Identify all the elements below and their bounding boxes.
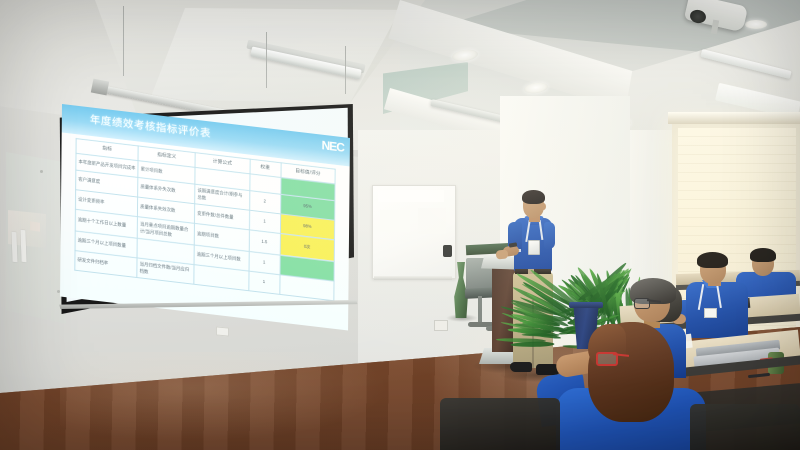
- whiteboard-reflection: [380, 210, 410, 232]
- palm-leaf: [522, 333, 560, 336]
- screen-suspension-wire: [266, 32, 267, 88]
- whiteboard-eraser[interactable]: [30, 221, 40, 231]
- screen-suspension-wire: [345, 46, 346, 94]
- whiteboard-reflection: [418, 208, 446, 234]
- presenter-shoe: [510, 362, 532, 372]
- cell-weight: 1: [248, 271, 279, 294]
- wall-outlet[interactable]: [216, 326, 229, 336]
- whiteboard-clip: [443, 245, 452, 257]
- whiteboard-reflection: [378, 190, 444, 202]
- wall-screw: [40, 170, 43, 173]
- chair[interactable]: [690, 404, 800, 450]
- whiteboard-marker[interactable]: [20, 230, 26, 263]
- whiteboard-marker[interactable]: [11, 232, 17, 263]
- slide-body: 指标 指标定义 计算公式 权重 目标值/评分 本年度新产品开发项目完成率 累计项…: [60, 132, 350, 330]
- attendee-back-man-hair: [750, 248, 776, 262]
- whiteboard-tray: [374, 276, 452, 280]
- slide-table: 指标 指标定义 计算公式 权重 目标值/评分 本年度新产品开发项目完成率 累计项…: [74, 138, 335, 301]
- screen-suspension-wire: [123, 6, 124, 76]
- attendee-lanyard-man-hair: [697, 252, 728, 268]
- window-header: [668, 112, 800, 124]
- company-logo: NEC: [321, 139, 343, 155]
- presenter-hair: [522, 190, 545, 204]
- meeting-room-photo: 年度绩效考核指标评价表 NEC 指标 指标定义 计算公式 权重 目标值/: [0, 0, 800, 450]
- screen-roller-end-cap: [91, 79, 109, 96]
- name-badge: [704, 308, 717, 318]
- downlight-icon: [745, 20, 767, 29]
- name-badge: [528, 240, 540, 255]
- plant-pot-rim: [569, 302, 603, 308]
- potted-palm: [546, 196, 632, 314]
- chair[interactable]: [440, 398, 560, 450]
- floor-highlight: [60, 352, 390, 442]
